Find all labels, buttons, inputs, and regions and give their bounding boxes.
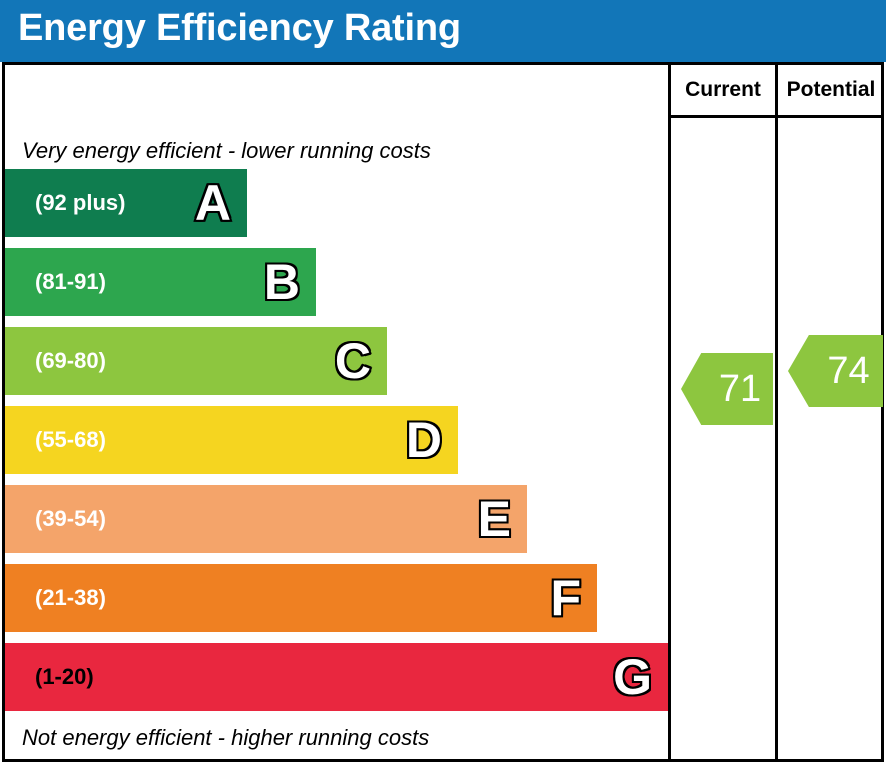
band-letter-c: C bbox=[335, 336, 371, 386]
chart-header-bar: Energy Efficiency Rating bbox=[0, 0, 886, 62]
band-row-d: (55-68) D bbox=[5, 406, 458, 474]
current-rating-value: 71 bbox=[681, 370, 773, 408]
potential-rating-arrow: 74 bbox=[788, 335, 883, 407]
band-row-c: (69-80) C bbox=[5, 327, 387, 395]
band-letter-e: E bbox=[478, 494, 511, 544]
band-letter-f: F bbox=[550, 573, 581, 623]
band-row-g: (1-20) G bbox=[5, 643, 668, 711]
band-letter-b: B bbox=[264, 257, 300, 307]
band-range-f: (21-38) bbox=[35, 585, 106, 611]
band-letter-d: D bbox=[406, 415, 442, 465]
column-divider-current bbox=[668, 65, 671, 759]
band-letter-g: G bbox=[613, 652, 652, 702]
band-range-b: (81-91) bbox=[35, 269, 106, 295]
band-range-e: (39-54) bbox=[35, 506, 106, 532]
caption-very-efficient: Very energy efficient - lower running co… bbox=[22, 138, 431, 164]
column-divider-potential bbox=[775, 65, 778, 759]
energy-efficiency-rating-chart: Energy Efficiency Rating Current Potenti… bbox=[0, 0, 886, 764]
band-row-f: (21-38) F bbox=[5, 564, 597, 632]
header-row-divider-mask bbox=[5, 113, 668, 120]
band-range-c: (69-80) bbox=[35, 348, 106, 374]
band-row-a: (92 plus) A bbox=[5, 169, 247, 237]
rating-table: Current Potential Very energy efficient … bbox=[2, 62, 884, 762]
band-range-g: (1-20) bbox=[35, 664, 94, 690]
band-range-d: (55-68) bbox=[35, 427, 106, 453]
current-rating-arrow: 71 bbox=[681, 353, 773, 425]
caption-not-efficient: Not energy efficient - higher running co… bbox=[22, 725, 429, 751]
potential-rating-value: 74 bbox=[788, 352, 883, 390]
band-letter-a: A bbox=[195, 178, 231, 228]
column-header-potential: Potential bbox=[778, 75, 884, 105]
band-row-b: (81-91) B bbox=[5, 248, 316, 316]
band-bars-group: (92 plus) A (81-91) B (69-80) C (55-68) … bbox=[5, 169, 668, 721]
band-range-a: (92 plus) bbox=[35, 190, 125, 216]
column-header-current: Current bbox=[671, 75, 775, 105]
band-row-e: (39-54) E bbox=[5, 485, 527, 553]
page-title: Energy Efficiency Rating bbox=[18, 7, 461, 50]
